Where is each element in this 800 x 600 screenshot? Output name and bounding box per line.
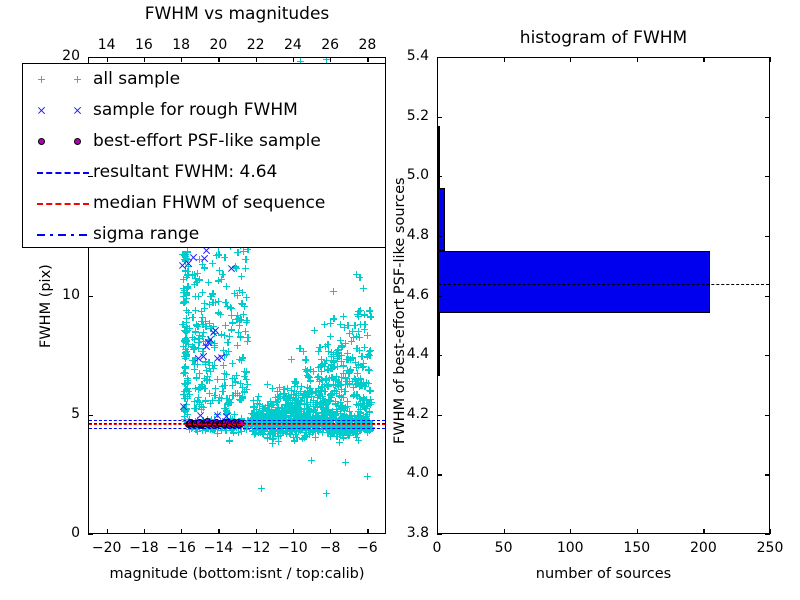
legend-dashed-line — [31, 190, 93, 216]
scatter-point-all-sample — [287, 407, 294, 414]
scatter-point-all-sample — [289, 404, 296, 411]
scatter-point-all-sample — [318, 376, 325, 383]
scatter-point-all-sample — [292, 431, 299, 438]
scatter-point-all-sample — [211, 392, 218, 399]
scatter-point-all-sample — [237, 334, 244, 341]
legend-item[interactable]: best-effort PSF-like sample — [23, 128, 385, 154]
scatter-point-all-sample — [211, 340, 218, 347]
scatter-point-all-sample — [196, 256, 203, 263]
scatter-point-all-sample — [338, 352, 345, 359]
scatter-point-all-sample — [304, 367, 311, 374]
scatter-point-all-sample — [180, 370, 187, 377]
axis-tick-label: 24 — [284, 37, 302, 53]
scatter-point-all-sample — [195, 293, 202, 300]
scatter-point-all-sample — [232, 263, 239, 270]
scatter-point-all-sample — [360, 363, 367, 370]
scatter-point-all-sample — [278, 410, 285, 417]
scatter-point-all-sample — [355, 437, 362, 444]
scatter-point-all-sample — [330, 429, 337, 436]
scatter-point-all-sample — [327, 391, 334, 398]
scatter-point-all-sample — [291, 409, 298, 416]
scatter-point-all-sample — [344, 398, 351, 405]
scatter-point-all-sample — [333, 373, 340, 380]
scatter-point-all-sample — [222, 299, 229, 306]
scatter-point-all-sample — [340, 370, 347, 377]
scatter-point-all-sample — [221, 376, 228, 383]
legend-item[interactable]: all sample — [23, 66, 385, 92]
scatter-point-all-sample — [248, 410, 255, 417]
axis-tick — [765, 474, 770, 475]
scatter-point-all-sample — [328, 391, 335, 398]
scatter-point-all-sample — [333, 433, 340, 440]
scatter-point-all-sample — [311, 327, 318, 334]
scatter-point-all-sample — [282, 412, 289, 419]
scatter-point-all-sample — [239, 394, 246, 401]
scatter-point-all-sample — [360, 425, 367, 432]
axis-tick — [437, 355, 442, 356]
scatter-point-all-sample — [317, 399, 324, 406]
legend-item-label: resultant FWHM: 4.64 — [93, 162, 277, 182]
scatter-point-all-sample — [207, 426, 214, 433]
scatter-point-all-sample — [304, 372, 311, 379]
scatter-point-all-sample — [328, 390, 335, 397]
axis-tick-label: 20 — [62, 48, 80, 64]
scatter-point-all-sample — [364, 428, 371, 435]
scatter-point-rough-fwhm — [227, 264, 236, 273]
axis-tick — [504, 529, 505, 534]
scatter-point-all-sample — [194, 361, 201, 368]
scatter-point-rough-fwhm — [199, 352, 208, 361]
legend-item[interactable]: median FHWM of sequence — [23, 190, 385, 216]
histogram-bar — [438, 313, 440, 376]
axis-tick — [570, 57, 571, 62]
scatter-point-all-sample — [325, 348, 332, 355]
scatter-point-all-sample — [275, 405, 282, 412]
axis-tick — [437, 415, 442, 416]
scatter-point-all-sample — [244, 334, 251, 341]
scatter-point-all-sample — [264, 435, 271, 442]
scatter-point-all-sample — [344, 322, 351, 329]
scatter-point-all-sample — [310, 399, 317, 406]
scatter-point-all-sample — [293, 428, 300, 435]
axis-tick — [256, 57, 257, 62]
scatter-point-all-sample — [367, 347, 374, 354]
scatter-point-all-sample — [316, 376, 323, 383]
scatter-point-all-sample — [320, 397, 327, 404]
scatter-point-all-sample — [348, 338, 355, 345]
scatter-point-all-sample — [204, 373, 211, 380]
scatter-point-all-sample — [353, 333, 360, 340]
axis-tick — [570, 529, 571, 534]
scatter-point-all-sample — [281, 390, 288, 397]
scatter-point-all-sample — [214, 376, 221, 383]
legend-item[interactable]: resultant FWHM: 4.64 — [23, 159, 385, 185]
scatter-point-all-sample — [345, 370, 352, 377]
scatter-point-all-sample — [297, 388, 304, 395]
scatter-point-all-sample — [334, 363, 341, 370]
scatter-point-all-sample — [184, 283, 191, 290]
scatter-point-all-sample — [181, 388, 188, 395]
legend-circle-marker — [31, 128, 93, 154]
scatter-point-all-sample — [206, 365, 213, 372]
scatter-point-all-sample — [364, 429, 371, 436]
axis-tick — [144, 529, 145, 534]
scatter-point-all-sample — [202, 342, 209, 349]
scatter-point-all-sample — [367, 313, 374, 320]
scatter-point-all-sample — [327, 333, 334, 340]
scatter-point-all-sample — [283, 396, 290, 403]
scatter-point-all-sample — [185, 341, 192, 348]
scatter-point-all-sample — [206, 301, 213, 308]
scatter-point-all-sample — [207, 325, 214, 332]
scatter-point-all-sample — [356, 274, 363, 281]
scatter-point-all-sample — [184, 393, 191, 400]
scatter-point-all-sample — [258, 410, 265, 417]
scatter-point-all-sample — [302, 366, 309, 373]
scatter-point-all-sample — [198, 381, 205, 388]
scatter-point-all-sample — [334, 347, 341, 354]
scatter-point-all-sample — [367, 387, 374, 394]
scatter-point-all-sample — [194, 323, 201, 330]
legend-item[interactable]: sigma range — [23, 221, 385, 247]
scatter-point-all-sample — [357, 400, 364, 407]
scatter-point-all-sample — [338, 405, 345, 412]
axis-tick-label: −20 — [92, 540, 122, 556]
scatter-point-all-sample — [333, 406, 340, 413]
scatter-point-all-sample — [293, 392, 300, 399]
scatter-point-all-sample — [300, 348, 307, 355]
scatter-point-all-sample — [268, 428, 275, 435]
scatter-point-all-sample — [325, 406, 332, 413]
scatter-point-all-sample — [255, 393, 262, 400]
scatter-point-all-sample — [319, 404, 326, 411]
scatter-point-all-sample — [309, 429, 316, 436]
scatter-point-all-sample — [270, 412, 277, 419]
scatter-point-all-sample — [278, 404, 285, 411]
axis-tick — [88, 415, 93, 416]
scatter-point-all-sample — [274, 398, 281, 405]
scatter-point-all-sample — [202, 318, 209, 325]
scatter-point-all-sample — [193, 279, 200, 286]
scatter-point-all-sample — [318, 409, 325, 416]
scatter-point-all-sample — [199, 383, 206, 390]
scatter-point-all-sample — [242, 265, 249, 272]
scatter-point-all-sample — [319, 395, 326, 402]
scatter-point-all-sample — [347, 356, 354, 363]
scatter-point-all-sample — [292, 378, 299, 385]
axis-tick — [181, 529, 182, 534]
scatter-point-all-sample — [360, 400, 367, 407]
axis-tick-label: 250 — [757, 540, 784, 556]
scatter-point-all-sample — [366, 409, 373, 416]
scatter-point-all-sample — [338, 394, 345, 401]
scatter-point-all-sample — [321, 363, 328, 370]
scatter-point-all-sample — [333, 410, 340, 417]
scatter-point-all-sample — [207, 368, 214, 375]
scatter-point-all-sample — [350, 392, 357, 399]
scatter-point-all-sample — [205, 359, 212, 366]
scatter-point-all-sample — [231, 290, 238, 297]
scatter-point-all-sample — [182, 405, 189, 412]
scatter-point-all-sample — [346, 378, 353, 385]
scatter-point-all-sample — [184, 379, 191, 386]
scatter-point-all-sample — [252, 429, 259, 436]
scatter-point-all-sample — [299, 426, 306, 433]
scatter-point-all-sample — [364, 332, 371, 339]
scatter-point-all-sample — [337, 321, 344, 328]
axis-tick-label: 3.8 — [407, 525, 429, 541]
scatter-point-all-sample — [357, 409, 364, 416]
scatter-point-all-sample — [338, 374, 345, 381]
scatter-point-all-sample — [282, 394, 289, 401]
scatter-point-all-sample — [276, 411, 283, 418]
histogram-x-axis-label: number of sources — [536, 566, 672, 582]
scatter-point-all-sample — [297, 398, 304, 405]
scatter-point-all-sample — [262, 415, 269, 422]
scatter-point-all-sample — [256, 408, 263, 415]
scatter-point-all-sample — [259, 411, 266, 418]
scatter-point-all-sample — [233, 372, 240, 379]
scatter-point-all-sample — [253, 412, 260, 419]
sigma-range-upper-line — [89, 420, 385, 421]
scatter-point-all-sample — [291, 383, 298, 390]
scatter-point-all-sample — [189, 334, 196, 341]
scatter-point-all-sample — [218, 276, 225, 283]
axis-tick-label: 16 — [135, 37, 153, 53]
scatter-point-all-sample — [270, 435, 277, 442]
scatter-point-all-sample — [333, 376, 340, 383]
scatter-point-all-sample — [250, 410, 257, 417]
scatter-point-all-sample — [198, 406, 205, 413]
scatter-point-all-sample — [268, 409, 275, 416]
scatter-point-all-sample — [181, 395, 188, 402]
scatter-point-all-sample — [323, 400, 330, 407]
scatter-point-all-sample — [341, 411, 348, 418]
scatter-point-all-sample — [266, 410, 273, 417]
scatter-point-all-sample — [274, 394, 281, 401]
scatter-point-all-sample — [318, 400, 325, 407]
scatter-point-all-sample — [289, 397, 296, 404]
scatter-point-all-sample — [314, 412, 321, 419]
scatter-point-all-sample — [343, 356, 350, 363]
scatter-point-all-sample — [344, 381, 351, 388]
scatter-point-all-sample — [182, 363, 189, 370]
scatter-point-all-sample — [330, 358, 337, 365]
scatter-point-all-sample — [236, 392, 243, 399]
legend-line-glyph — [37, 172, 89, 174]
scatter-point-all-sample — [315, 348, 322, 355]
scatter-point-all-sample — [298, 411, 305, 418]
scatter-point-all-sample — [251, 404, 258, 411]
scatter-point-all-sample — [338, 403, 345, 410]
scatter-point-all-sample — [343, 426, 350, 433]
scatter-point-all-sample — [362, 405, 369, 412]
scatter-point-all-sample — [354, 430, 361, 437]
scatter-point-all-sample — [241, 373, 248, 380]
scatter-point-all-sample — [238, 300, 245, 307]
scatter-point-all-sample — [270, 412, 277, 419]
scatter-point-all-sample — [295, 392, 302, 399]
scatter-point-all-sample — [324, 383, 331, 390]
scatter-point-all-sample — [287, 431, 294, 438]
scatter-point-rough-fwhm — [211, 326, 220, 335]
scatter-point-all-sample — [340, 405, 347, 412]
scatter-point-all-sample — [233, 316, 240, 323]
scatter-point-all-sample — [220, 347, 227, 354]
scatter-point-all-sample — [293, 406, 300, 413]
scatter-point-all-sample — [235, 429, 242, 436]
axis-tick — [765, 117, 770, 118]
scatter-point-all-sample — [184, 385, 191, 392]
scatter-point-all-sample — [325, 406, 332, 413]
scatter-point-all-sample — [190, 346, 197, 353]
axis-tick — [330, 529, 331, 534]
axis-tick — [765, 534, 770, 535]
scatter-point-all-sample — [308, 388, 315, 395]
scatter-point-all-sample — [329, 365, 336, 372]
scatter-point-all-sample — [198, 318, 205, 325]
scatter-point-all-sample — [333, 349, 340, 356]
scatter-point-all-sample — [208, 293, 215, 300]
scatter-point-all-sample — [291, 397, 298, 404]
scatter-point-all-sample — [357, 321, 364, 328]
scatter-point-all-sample — [320, 409, 327, 416]
scatter-point-all-sample — [211, 362, 218, 369]
scatter-point-all-sample — [304, 384, 311, 391]
scatter-point-all-sample — [181, 407, 188, 414]
scatter-point-all-sample — [307, 415, 314, 422]
scatter-point-all-sample — [268, 410, 275, 417]
scatter-point-all-sample — [205, 336, 212, 343]
axis-tick-label: 4.0 — [407, 465, 429, 481]
scatter-point-all-sample — [269, 440, 276, 447]
scatter-point-all-sample — [183, 289, 190, 296]
scatter-point-all-sample — [316, 401, 323, 408]
legend-box: all samplesample for rough FWHMbest-effo… — [22, 63, 386, 248]
scatter-point-all-sample — [180, 391, 187, 398]
scatter-point-all-sample — [353, 401, 360, 408]
scatter-point-all-sample — [278, 405, 285, 412]
scatter-point-all-sample — [340, 434, 347, 441]
axis-tick — [765, 415, 770, 416]
scatter-point-all-sample — [183, 348, 190, 355]
scatter-point-all-sample — [347, 429, 354, 436]
scatter-point-all-sample — [303, 413, 310, 420]
scatter-point-all-sample — [225, 399, 232, 406]
scatter-point-all-sample — [193, 405, 200, 412]
scatter-point-all-sample — [284, 406, 291, 413]
scatter-point-all-sample — [349, 354, 356, 361]
scatter-point-all-sample — [210, 365, 217, 372]
scatter-point-all-sample — [350, 334, 357, 341]
scatter-point-all-sample — [204, 376, 211, 383]
axis-tick-label: 5.0 — [407, 167, 429, 183]
scatter-point-all-sample — [222, 405, 229, 412]
scatter-point-all-sample — [184, 325, 191, 332]
scatter-point-all-sample — [183, 255, 190, 262]
scatter-point-all-sample — [330, 428, 337, 435]
scatter-point-all-sample — [335, 346, 342, 353]
scatter-point-all-sample — [264, 434, 271, 441]
scatter-point-all-sample — [326, 397, 333, 404]
scatter-point-all-sample — [367, 401, 374, 408]
scatter-point-all-sample — [314, 404, 321, 411]
scatter-point-all-sample — [191, 281, 198, 288]
scatter-point-all-sample — [193, 321, 200, 328]
scatter-point-all-sample — [283, 409, 290, 416]
scatter-point-all-sample — [265, 410, 272, 417]
scatter-point-all-sample — [257, 412, 264, 419]
scatter-point-all-sample — [237, 380, 244, 387]
scatter-point-all-sample — [277, 395, 284, 402]
scatter-point-all-sample — [220, 362, 227, 369]
axis-tick-label: 4.4 — [407, 346, 429, 362]
scatter-point-all-sample — [228, 305, 235, 312]
scatter-point-all-sample — [334, 408, 341, 415]
scatter-point-all-sample — [330, 351, 337, 358]
scatter-point-all-sample — [221, 382, 228, 389]
scatter-point-all-sample — [274, 409, 281, 416]
scatter-point-all-sample — [339, 426, 346, 433]
scatter-point-all-sample — [323, 490, 330, 497]
scatter-point-all-sample — [221, 370, 228, 377]
scatter-point-all-sample — [353, 391, 360, 398]
scatter-point-all-sample — [219, 388, 226, 395]
scatter-point-rough-fwhm — [209, 328, 218, 337]
scatter-point-all-sample — [215, 298, 222, 305]
scatter-point-all-sample — [323, 409, 330, 416]
scatter-point-all-sample — [260, 431, 267, 438]
scatter-point-all-sample — [234, 390, 241, 397]
scatter-point-all-sample — [351, 375, 358, 382]
axis-tick — [107, 529, 108, 534]
axis-tick — [437, 474, 442, 475]
scatter-point-all-sample — [196, 384, 203, 391]
scatter-point-all-sample — [353, 271, 360, 278]
legend-dashed-line — [31, 159, 93, 185]
scatter-point-all-sample — [336, 439, 343, 446]
scatter-point-all-sample — [232, 390, 239, 397]
scatter-point-all-sample — [236, 287, 243, 294]
scatter-point-all-sample — [277, 432, 284, 439]
scatter-point-all-sample — [322, 343, 329, 350]
scatter-point-all-sample — [288, 387, 295, 394]
scatter-point-all-sample — [243, 319, 250, 326]
legend-item[interactable]: sample for rough FWHM — [23, 97, 385, 123]
scatter-point-all-sample — [322, 402, 329, 409]
axis-tick-label: 5 — [71, 406, 80, 422]
scatter-point-all-sample — [200, 338, 207, 345]
scatter-point-all-sample — [186, 391, 193, 398]
scatter-point-all-sample — [324, 429, 331, 436]
scatter-point-all-sample — [239, 384, 246, 391]
scatter-point-all-sample — [323, 412, 330, 419]
scatter-point-all-sample — [229, 360, 236, 367]
scatter-point-all-sample — [241, 303, 248, 310]
scatter-point-all-sample — [212, 385, 219, 392]
scatter-point-all-sample — [226, 333, 233, 340]
scatter-point-rough-fwhm — [213, 354, 222, 363]
scatter-point-all-sample — [230, 429, 237, 436]
scatter-point-all-sample — [242, 256, 249, 263]
scatter-point-all-sample — [352, 381, 359, 388]
scatter-point-all-sample — [332, 400, 339, 407]
scatter-point-all-sample — [183, 315, 190, 322]
scatter-point-all-sample — [298, 383, 305, 390]
scatter-point-all-sample — [275, 433, 282, 440]
scatter-point-all-sample — [271, 411, 278, 418]
scatter-point-all-sample — [293, 399, 300, 406]
